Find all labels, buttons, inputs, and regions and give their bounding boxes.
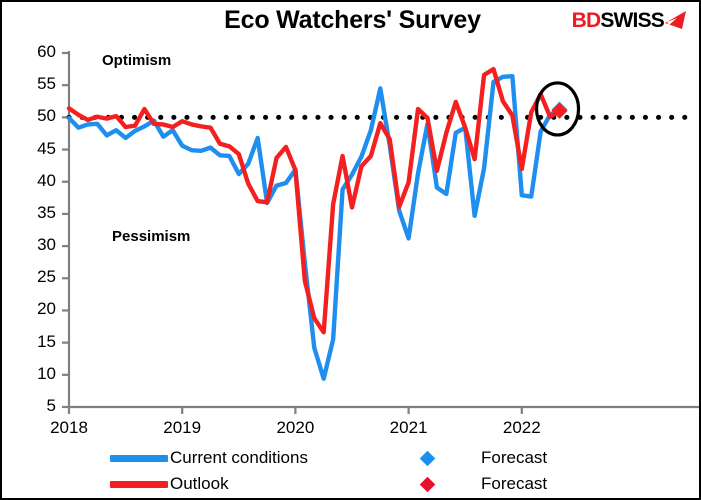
y-tick-label: 25: [2, 267, 56, 287]
y-tick-label: 35: [2, 203, 56, 223]
brand-logo-bd: BD: [572, 9, 601, 33]
legend-item-forecast-blue: Forecast: [400, 445, 547, 471]
x-tick-label: 2022: [495, 418, 549, 438]
annotation-pessimism: Pessimism: [112, 228, 190, 245]
series-group: [69, 69, 560, 379]
y-tick-label: 10: [2, 364, 56, 384]
y-tick-label: 45: [2, 139, 56, 159]
annotation-optimism: Optimism: [102, 52, 171, 69]
x-tick-label: 2018: [42, 418, 96, 438]
legend-diamond-swatch-red: [420, 476, 436, 492]
y-tick-label: 20: [2, 299, 56, 319]
chart-legend: Current conditions Outlook Forecast Fore…: [2, 445, 701, 500]
legend-label-current-conditions: Current conditions: [170, 448, 308, 468]
legend-line-swatch-red: [110, 481, 168, 488]
y-tick-label: 50: [2, 106, 56, 126]
legend-item-current-conditions: Current conditions: [110, 445, 308, 471]
y-tick-label: 40: [2, 171, 56, 191]
y-tick-label: 30: [2, 235, 56, 255]
y-tick-label: 60: [2, 42, 56, 62]
brand-logo-swiss: SWISS: [600, 9, 664, 33]
chart-page: Eco Watchers' Survey BDSWISS Optimism Pe…: [0, 0, 701, 500]
legend-label-forecast-blue: Forecast: [481, 448, 547, 468]
legend-label-forecast-red: Forecast: [481, 474, 547, 494]
legend-item-outlook: Outlook: [110, 471, 229, 497]
legend-item-forecast-red: Forecast: [400, 471, 547, 497]
chart-svg: [2, 40, 701, 440]
legend-diamond-swatch-blue: [420, 450, 436, 466]
y-tick-label: 55: [2, 74, 56, 94]
x-tick-label: 2019: [155, 418, 209, 438]
plot-area: Optimism Pessimism 510152025303540455055…: [2, 40, 701, 440]
y-tick-label: 5: [2, 396, 56, 416]
y-tick-label: 15: [2, 332, 56, 352]
x-tick-label: 2021: [382, 418, 436, 438]
legend-line-swatch-blue: [110, 455, 168, 462]
brand-logo: BDSWISS: [572, 9, 687, 33]
arrow-swoosh-icon: [665, 11, 687, 31]
legend-label-outlook: Outlook: [170, 474, 229, 494]
x-tick-label: 2020: [268, 418, 322, 438]
